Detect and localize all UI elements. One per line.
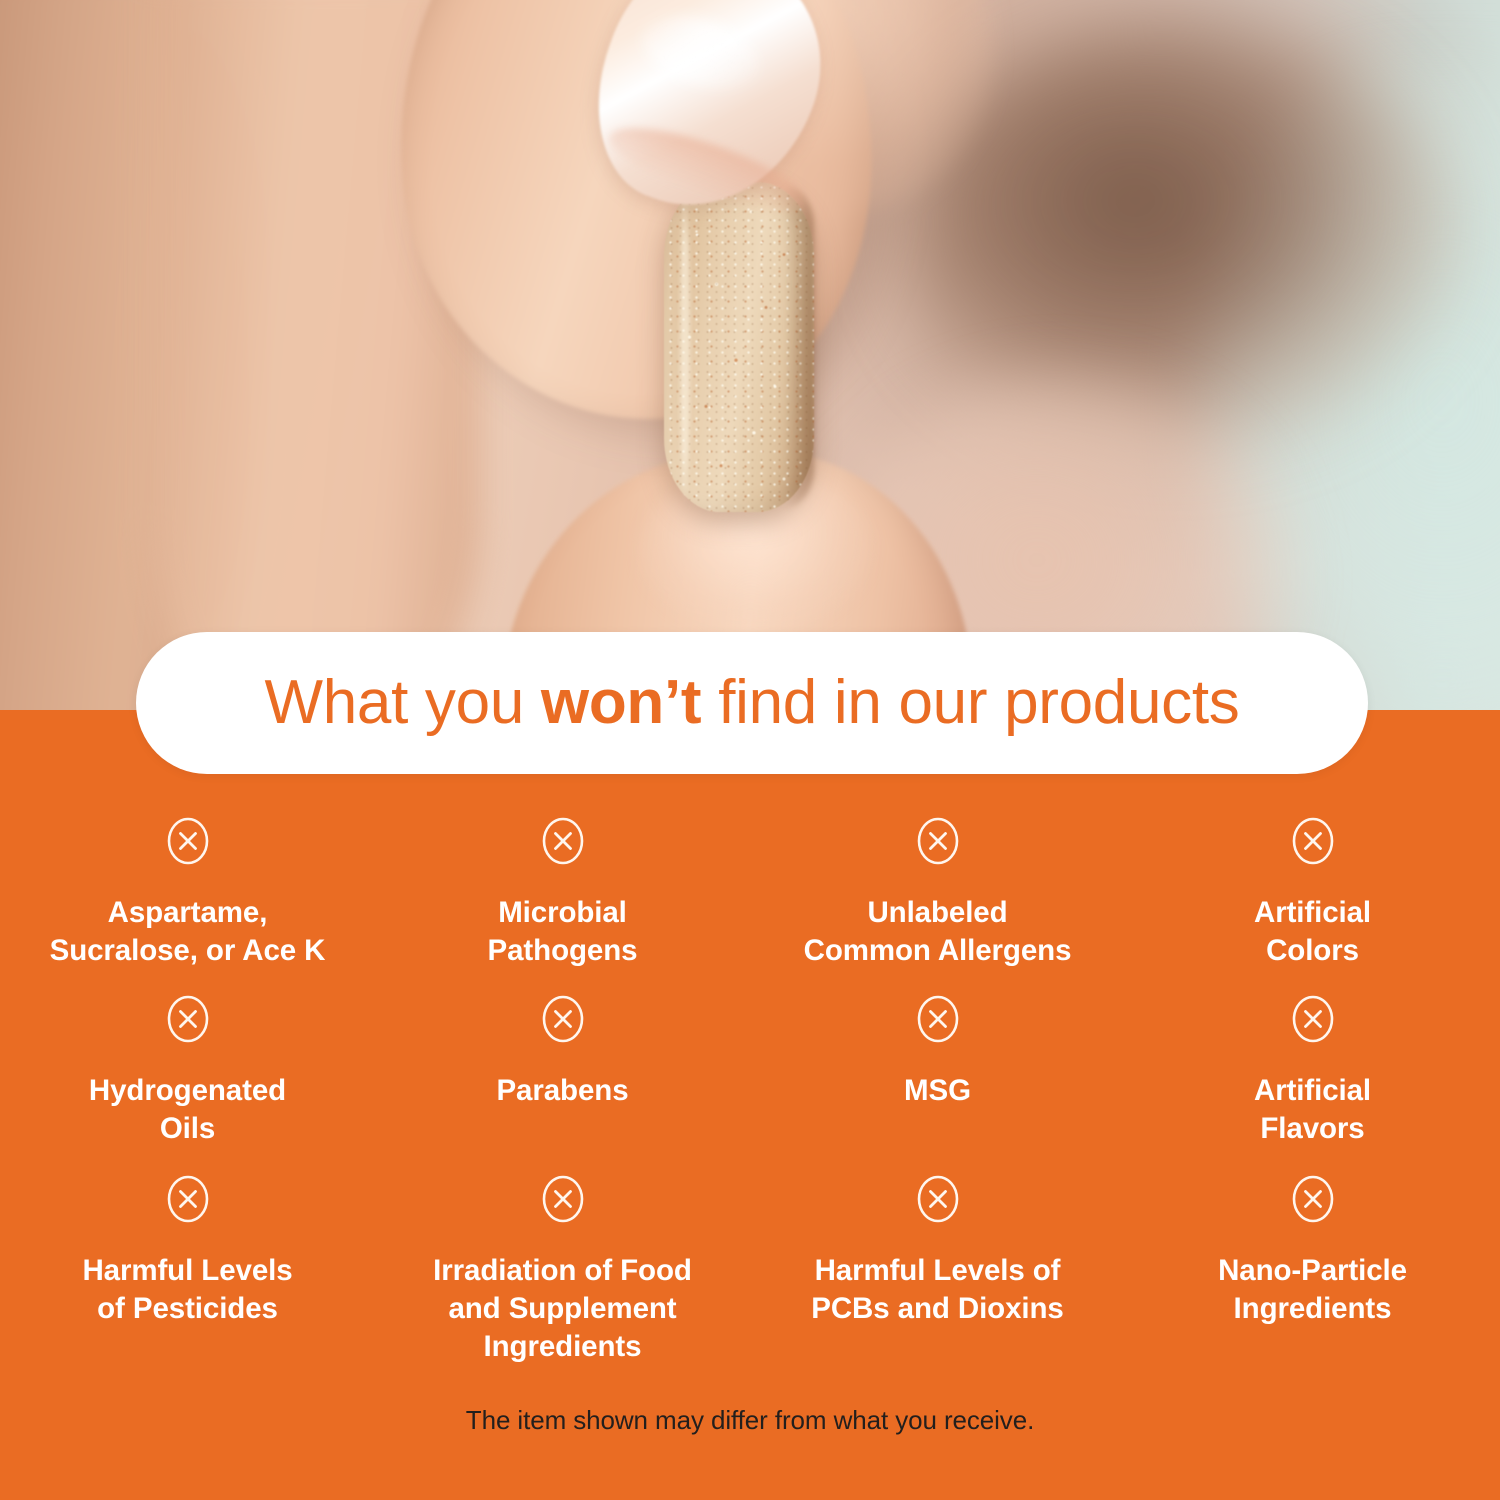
exclusion-item: Harmful Levels of PCBs and Dioxins xyxy=(750,1174,1125,1369)
circle-x-icon xyxy=(916,816,960,866)
exclusion-item: Harmful Levels of Pesticides xyxy=(0,1174,375,1369)
tablet-edge-highlight xyxy=(680,188,690,506)
exclusion-label: Nano-Particle Ingredients xyxy=(1218,1252,1407,1328)
circle-x-icon xyxy=(1291,1174,1335,1224)
exclusion-item: Unlabeled Common Allergens xyxy=(750,816,1125,994)
product-photo xyxy=(0,0,1500,715)
exclusion-label: Harmful Levels of Pesticides xyxy=(82,1252,292,1328)
exclusion-label: Hydrogenated Oils xyxy=(89,1072,286,1148)
exclusion-item: Nano-Particle Ingredients xyxy=(1125,1174,1500,1369)
exclusion-label: Irradiation of Food and Supplement Ingre… xyxy=(433,1252,692,1365)
exclusion-label: Aspartame, Sucralose, or Ace K xyxy=(50,894,326,970)
exclusion-label: MSG xyxy=(904,1072,971,1110)
exclusion-item: Microbial Pathogens xyxy=(375,816,750,994)
exclusion-item: Artificial Colors xyxy=(1125,816,1500,994)
exclusion-label: Artificial Flavors xyxy=(1254,1072,1371,1148)
disclaimer-text: The item shown may differ from what you … xyxy=(0,1405,1500,1436)
exclusion-item: Artificial Flavors xyxy=(1125,994,1500,1174)
circle-x-icon xyxy=(1291,994,1335,1044)
exclusion-item: Irradiation of Food and Supplement Ingre… xyxy=(375,1174,750,1369)
headline-part-two: find in our products xyxy=(701,668,1239,737)
exclusion-item: Parabens xyxy=(375,994,750,1174)
tablet-right-shadow xyxy=(784,186,814,508)
headline-banner: What you won’t find in our products xyxy=(136,632,1368,774)
headline-emphasis: won’t xyxy=(541,668,701,737)
circle-x-icon xyxy=(166,1174,210,1224)
page-title: What you won’t find in our products xyxy=(265,672,1240,734)
tablet-icon xyxy=(664,182,814,512)
exclusion-label: Microbial Pathogens xyxy=(488,894,638,970)
circle-x-icon xyxy=(541,1174,585,1224)
circle-x-icon xyxy=(916,1174,960,1224)
circle-x-icon xyxy=(541,994,585,1044)
circle-x-icon xyxy=(166,816,210,866)
exclusion-item: Aspartame, Sucralose, or Ace K xyxy=(0,816,375,994)
circle-x-icon xyxy=(166,994,210,1044)
exclusions-grid: Aspartame, Sucralose, or Ace K Microbial… xyxy=(0,816,1500,1369)
headline-part-one: What you xyxy=(265,668,541,737)
circle-x-icon xyxy=(916,994,960,1044)
product-infographic-page: What you won’t find in our products Aspa… xyxy=(0,0,1500,1500)
exclusion-label: Harmful Levels of PCBs and Dioxins xyxy=(811,1252,1063,1328)
exclusion-label: Parabens xyxy=(496,1072,628,1110)
circle-x-icon xyxy=(1291,816,1335,866)
circle-x-icon xyxy=(541,816,585,866)
exclusion-item: Hydrogenated Oils xyxy=(0,994,375,1174)
exclusion-label: Unlabeled Common Allergens xyxy=(804,894,1072,970)
exclusion-item: MSG xyxy=(750,994,1125,1174)
exclusion-label: Artificial Colors xyxy=(1254,894,1371,970)
